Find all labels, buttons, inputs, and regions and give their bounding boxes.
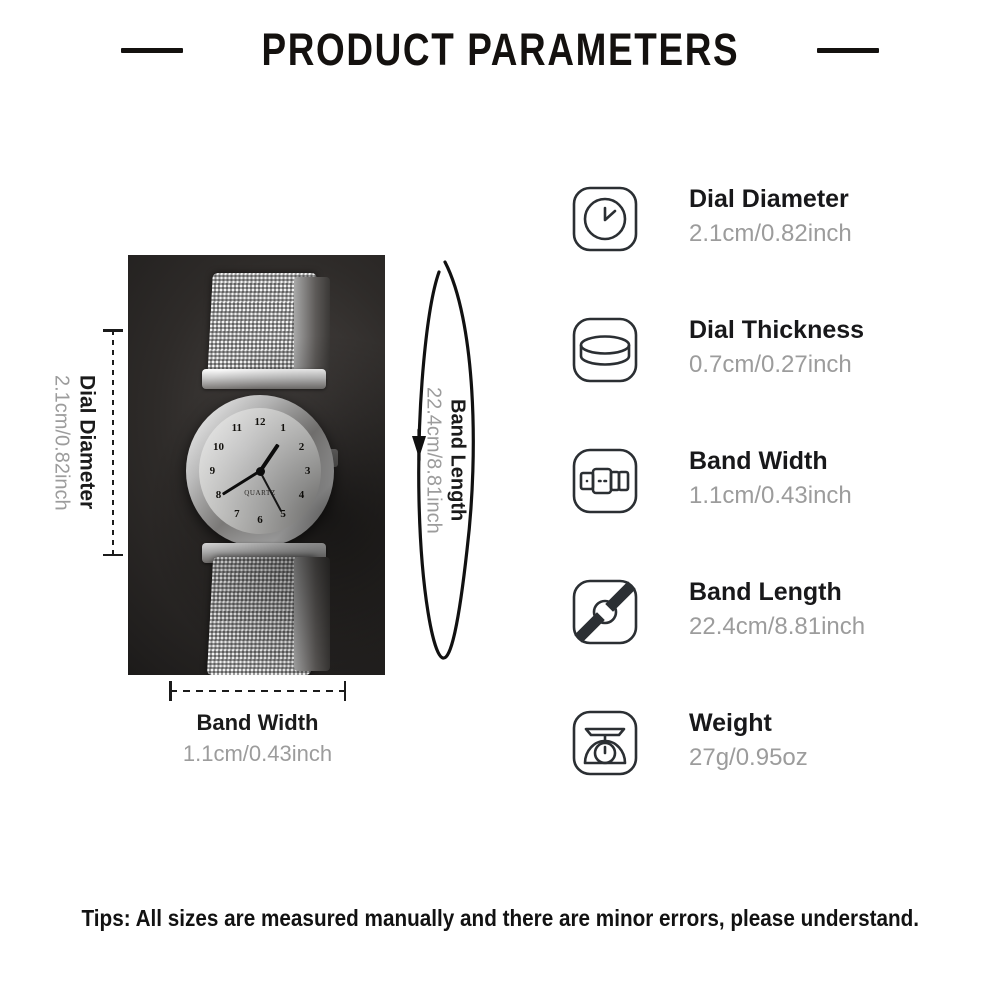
dial-center-pin <box>256 467 265 476</box>
band-width-callout: Band Width 1.1cm/0.43inch <box>95 708 420 770</box>
band-width-callout-label: Band Width <box>95 708 420 738</box>
dial-number-1: 1 <box>280 422 286 434</box>
spec-row-band-width: Band Width 1.1cm/0.43inch <box>570 442 990 573</box>
minute-hand <box>222 470 261 496</box>
spec-label: Weight <box>689 706 808 740</box>
spec-row-dial-thickness: Dial Thickness 0.7cm/0.27inch <box>570 311 990 442</box>
dial-number-8: 8 <box>216 489 222 501</box>
watch-band-icon <box>570 577 640 647</box>
spec-value: 27g/0.95oz <box>689 740 808 776</box>
dial-number-2: 2 <box>299 441 305 453</box>
dial-number-3: 3 <box>305 465 311 477</box>
product-photo: 12 1 2 3 4 5 6 7 8 9 10 11 QUARTZ <box>128 255 385 675</box>
watch-lug-top <box>202 369 326 389</box>
title-rule-left-icon <box>121 48 183 53</box>
title-rule-right-icon <box>817 48 879 53</box>
dial-number-11: 11 <box>232 422 242 434</box>
product-parameters-page: PRODUCT PARAMETERS 12 1 2 3 4 5 <box>0 0 1000 1000</box>
band-length-callout-value: 22.4cm/8.81inch <box>422 387 445 534</box>
spec-label: Dial Thickness <box>689 313 864 347</box>
watch-band-bottom-shade <box>294 557 330 671</box>
band-length-callout-label: Band Length <box>446 399 469 521</box>
dial-number-12: 12 <box>255 416 266 428</box>
band-width-callout-value: 1.1cm/0.43inch <box>95 738 420 770</box>
tips-section: Tips: All sizes are measured manually an… <box>0 905 1000 932</box>
dial-diameter-callout-label: Dial Diameter <box>75 375 99 509</box>
watch-band-top <box>207 273 317 379</box>
hour-hand <box>259 443 280 471</box>
spec-label: Band Width <box>689 444 852 478</box>
spec-value: 2.1cm/0.82inch <box>689 216 852 252</box>
watch-dial-icon <box>570 184 640 254</box>
band-length-loop-arrow-icon: Band Length 22.4cm/8.81inch <box>405 250 485 670</box>
spec-label: Dial Diameter <box>689 182 852 216</box>
dial-number-5: 5 <box>280 508 286 520</box>
watch-crown <box>322 449 338 467</box>
spec-text-dial-diameter: Dial Diameter 2.1cm/0.82inch <box>689 180 852 252</box>
watch-lug-bottom <box>202 543 326 563</box>
spec-row-dial-diameter: Dial Diameter 2.1cm/0.82inch <box>570 180 990 311</box>
watch-dial: 12 1 2 3 4 5 6 7 8 9 10 11 QUARTZ <box>199 408 321 534</box>
band-length-callout: Band Length 22.4cm/8.81inch <box>405 250 485 670</box>
dial-number-9: 9 <box>210 465 216 477</box>
spec-value: 0.7cm/0.27inch <box>689 347 864 383</box>
spec-list: Dial Diameter 2.1cm/0.82inch Dial Thickn… <box>570 180 990 835</box>
product-photo-zone: 12 1 2 3 4 5 6 7 8 9 10 11 QUARTZ <box>0 230 520 790</box>
spec-value: 1.1cm/0.43inch <box>689 478 852 514</box>
spec-text-band-length: Band Length 22.4cm/8.81inch <box>689 573 865 645</box>
spec-value: 22.4cm/8.81inch <box>689 609 865 645</box>
spec-text-band-width: Band Width 1.1cm/0.43inch <box>689 442 852 514</box>
second-hand <box>259 471 282 512</box>
watch-illustration: 12 1 2 3 4 5 6 7 8 9 10 11 QUARTZ <box>154 271 364 663</box>
dimension-cap-right-icon <box>344 681 347 701</box>
watch-band-top-shade <box>294 277 330 379</box>
watch-strap-icon <box>570 446 640 516</box>
dimension-cap-bottom-icon <box>103 554 123 557</box>
spec-row-band-length: Band Length 22.4cm/8.81inch <box>570 573 990 704</box>
dial-number-7: 7 <box>234 508 240 520</box>
watch-case: 12 1 2 3 4 5 6 7 8 9 10 11 QUARTZ <box>186 395 334 547</box>
dial-brand-text: QUARTZ <box>244 489 276 497</box>
spec-text-weight: Weight 27g/0.95oz <box>689 704 808 776</box>
dial-diameter-callout-value: 2.1cm/0.82inch <box>50 375 73 511</box>
dial-number-10: 10 <box>213 441 224 453</box>
dial-number-4: 4 <box>299 489 305 501</box>
dimension-cap-left-icon <box>169 681 172 701</box>
watch-band-bottom <box>207 557 317 675</box>
page-title: PRODUCT PARAMETERS <box>261 24 739 76</box>
tips-text: Tips: All sizes are measured manually an… <box>81 905 919 932</box>
dial-diameter-callout: Dial Diameter 2.1cm/0.82inch <box>42 330 106 555</box>
dial-diameter-dimension-line <box>112 330 114 555</box>
kitchen-scale-icon <box>570 708 640 778</box>
dimension-cap-top-icon <box>103 329 123 332</box>
disc-thickness-icon <box>570 315 640 385</box>
spec-label: Band Length <box>689 575 865 609</box>
spec-text-dial-thickness: Dial Thickness 0.7cm/0.27inch <box>689 311 864 383</box>
band-width-dimension-line <box>170 690 345 692</box>
page-header: PRODUCT PARAMETERS <box>0 18 1000 82</box>
dial-number-6: 6 <box>257 514 263 526</box>
spec-row-weight: Weight 27g/0.95oz <box>570 704 990 835</box>
